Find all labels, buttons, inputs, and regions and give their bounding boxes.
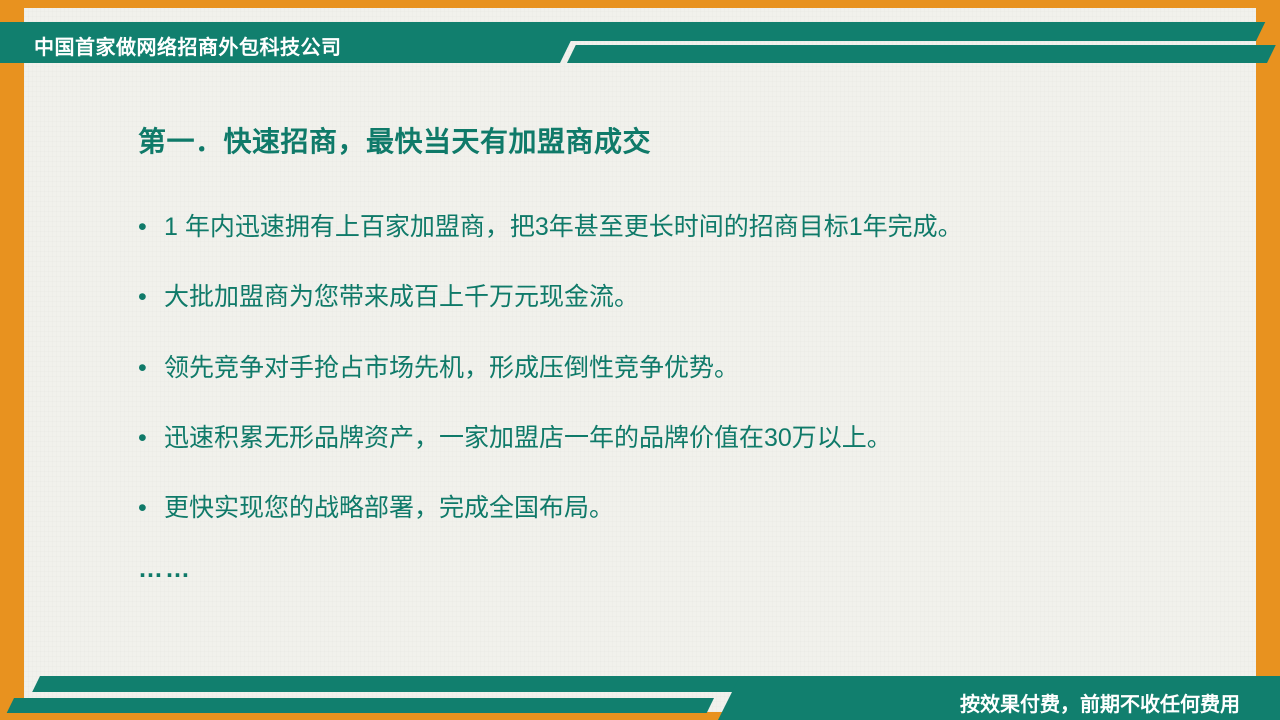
list-item-text: 1 年内迅速拥有上百家加盟商，把3年甚至更长时间的招商目标1年完成。 [164, 212, 1228, 243]
header-band: 中国首家做网络招商外包科技公司 [0, 0, 1280, 63]
bullet-dot-icon: • [138, 353, 164, 384]
footer-stripe-lower [7, 698, 714, 713]
list-item-text: 大批加盟商为您带来成百上千万元现金流。 [164, 282, 1228, 313]
header-stripe-lower [567, 45, 1276, 63]
footer-tagline: 按效果付费，前期不收任何费用 [960, 688, 1240, 717]
header-title: 中国首家做网络招商外包科技公司 [34, 31, 342, 60]
list-item-text: 迅速积累无形品牌资产，一家加盟店一年的品牌价值在30万以上。 [164, 423, 1228, 454]
list-item: • 领先竞争对手抢占市场先机，形成压倒性竞争优势。 [138, 353, 1228, 384]
list-item: • 迅速积累无形品牌资产，一家加盟店一年的品牌价值在30万以上。 [138, 423, 1228, 454]
list-item-text: 领先竞争对手抢占市场先机，形成压倒性竞争优势。 [164, 353, 1228, 384]
page-title: 第一．快速招商，最快当天有加盟商成交 [138, 120, 1228, 160]
list-item: • 1 年内迅速拥有上百家加盟商，把3年甚至更长时间的招商目标1年完成。 [138, 212, 1228, 243]
slide-content: 第一．快速招商，最快当天有加盟商成交 • 1 年内迅速拥有上百家加盟商，把3年甚… [138, 120, 1228, 584]
bullet-dot-icon: • [138, 282, 164, 313]
list-item: • 大批加盟商为您带来成百上千万元现金流。 [138, 282, 1228, 313]
ellipsis-text: …… [138, 555, 1228, 584]
list-item-text: 更快实现您的战略部署，完成全国布局。 [164, 493, 1228, 524]
bullet-list: • 1 年内迅速拥有上百家加盟商，把3年甚至更长时间的招商目标1年完成。 • 大… [138, 212, 1228, 524]
bullet-dot-icon: • [138, 212, 164, 243]
footer-stripe-upper [32, 676, 756, 692]
list-item: • 更快实现您的战略部署，完成全国布局。 [138, 493, 1228, 524]
footer-band: 按效果付费，前期不收任何费用 [0, 648, 1280, 720]
bullet-dot-icon: • [138, 493, 164, 524]
bullet-dot-icon: • [138, 423, 164, 454]
header-stripe-upper [540, 22, 1265, 41]
